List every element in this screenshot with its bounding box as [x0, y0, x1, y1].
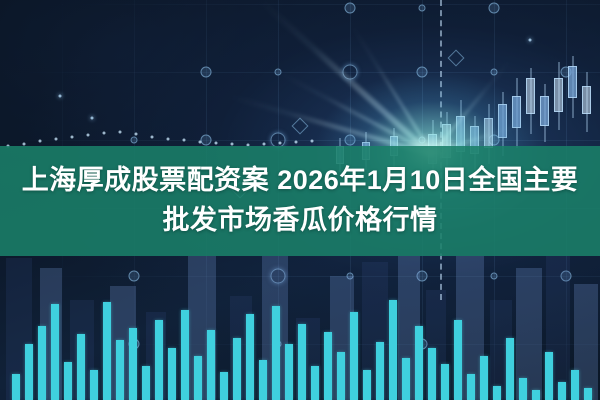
volume-bar — [545, 352, 553, 400]
grid-node-icon — [491, 273, 498, 280]
grid-node-icon — [489, 3, 500, 14]
grid-spark-icon — [529, 39, 532, 42]
grid-node-icon — [347, 273, 354, 280]
volume-bar — [324, 332, 332, 400]
background-column — [146, 312, 166, 400]
background-column — [546, 256, 570, 400]
volume-bar — [376, 342, 384, 400]
volume-bar — [259, 360, 267, 400]
volume-bar — [77, 334, 85, 400]
background-column — [70, 300, 94, 400]
grid-node-icon — [275, 69, 282, 76]
grid-node-icon — [417, 67, 428, 78]
volume-bar — [363, 370, 371, 400]
grid-node-icon — [201, 67, 212, 78]
stock-news-banner: 上海厚成股票配资案 2026年1月10日全国主要 批发市场香瓜价格行情 — [0, 0, 600, 400]
volume-bar — [207, 330, 215, 400]
volume-bar — [220, 372, 228, 400]
candlestick — [554, 62, 563, 130]
candlestick — [512, 78, 521, 148]
volume-bar — [285, 344, 293, 400]
grid-node-icon — [275, 341, 282, 348]
grid-node-icon — [345, 3, 356, 14]
title-line-2: 批发市场香瓜价格行情 — [163, 203, 438, 239]
volume-bar — [415, 326, 423, 400]
volume-bar — [181, 310, 189, 400]
volume-bar — [454, 320, 462, 400]
candlestick — [540, 84, 549, 142]
volume-bar — [350, 312, 358, 400]
volume-bar — [116, 340, 124, 400]
background-column — [188, 256, 216, 400]
background-column — [40, 268, 62, 400]
volume-bar — [389, 300, 397, 400]
volume-bar — [519, 378, 527, 400]
volume-bar — [337, 352, 345, 400]
volume-bar — [168, 348, 176, 400]
volume-bar — [233, 338, 241, 400]
volume-bar — [90, 370, 98, 400]
background-column — [516, 268, 542, 400]
grid-node-icon — [343, 65, 358, 80]
volume-bar — [103, 302, 111, 400]
volume-bar — [506, 338, 514, 400]
volume-bar — [558, 382, 566, 400]
candlestick — [582, 72, 591, 132]
background-column — [230, 296, 252, 400]
candlestick — [568, 56, 577, 118]
volume-bar — [155, 320, 163, 400]
volume-bar — [428, 348, 436, 400]
grid-diamond-icon — [448, 50, 465, 67]
grid-node-icon — [129, 271, 140, 282]
volume-bar — [64, 362, 72, 400]
grid-spark-icon — [59, 95, 62, 98]
background-column — [456, 256, 484, 400]
volume-bar — [272, 306, 280, 400]
grid-node-icon — [417, 339, 428, 350]
volume-bar — [246, 314, 254, 400]
volume-bar — [142, 366, 150, 400]
background-column — [296, 318, 320, 400]
grid-node-icon — [345, 135, 356, 146]
background-column — [110, 286, 136, 400]
grid-spark-icon — [91, 117, 94, 120]
volume-bar — [12, 374, 20, 400]
volume-bar — [467, 374, 475, 400]
candlestick — [526, 68, 535, 134]
banner-title: 上海厚成股票配资案 2026年1月10日全国主要 批发市场香瓜价格行情 — [0, 146, 600, 256]
volume-bar — [129, 328, 137, 400]
grid-node-icon — [419, 5, 426, 12]
background-column — [426, 290, 446, 400]
volume-bar — [584, 388, 592, 400]
volume-bar — [298, 324, 306, 400]
background-column — [330, 276, 354, 400]
volume-bar — [311, 366, 319, 400]
volume-bar — [571, 370, 579, 400]
grid-node-icon — [417, 271, 428, 282]
background-column — [490, 300, 512, 400]
volume-bar — [532, 390, 540, 400]
volume-bar — [493, 386, 501, 400]
grid-node-icon — [561, 271, 572, 282]
grid-node-icon — [419, 137, 426, 144]
volume-bar — [38, 326, 46, 400]
grid-node-icon — [201, 135, 212, 146]
volume-bar — [51, 304, 59, 400]
background-column — [6, 258, 32, 400]
volume-bar — [194, 356, 202, 400]
grid-diamond-icon — [292, 118, 309, 135]
grid-node-icon — [271, 269, 286, 284]
volume-bar — [25, 344, 33, 400]
grid-node-icon — [131, 137, 138, 144]
background-column — [574, 284, 598, 400]
background-column — [398, 256, 420, 400]
grid-node-icon — [129, 339, 140, 350]
volume-bar — [480, 356, 488, 400]
background-column — [362, 262, 388, 400]
grid-node-icon — [489, 135, 500, 146]
grid-node-icon — [561, 67, 572, 78]
volume-bar — [402, 358, 410, 400]
background-column — [262, 256, 288, 400]
volume-bar — [441, 364, 449, 400]
title-line-1: 上海厚成股票配资案 2026年1月10日全国主要 — [22, 163, 579, 199]
grid-node-icon — [491, 69, 498, 76]
